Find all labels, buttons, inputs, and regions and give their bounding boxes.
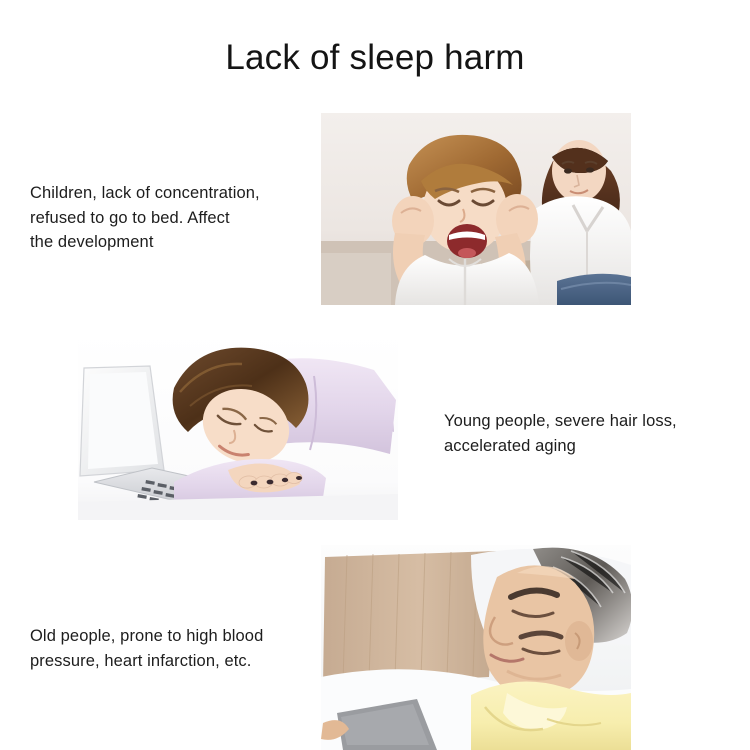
photo-children-crying (321, 113, 631, 305)
caption-young-people: Young people, severe hair loss, accelera… (444, 409, 724, 458)
photo-elderly-man-resting (321, 545, 631, 750)
page-title: Lack of sleep harm (0, 36, 750, 80)
caption-children: Children, lack of concentration, refused… (30, 181, 305, 255)
caption-old-people: Old people, prone to high blood pressure… (30, 624, 315, 673)
photo-young-woman-asleep-at-laptop (78, 330, 398, 520)
poster-page: Lack of sleep harm (0, 0, 750, 750)
